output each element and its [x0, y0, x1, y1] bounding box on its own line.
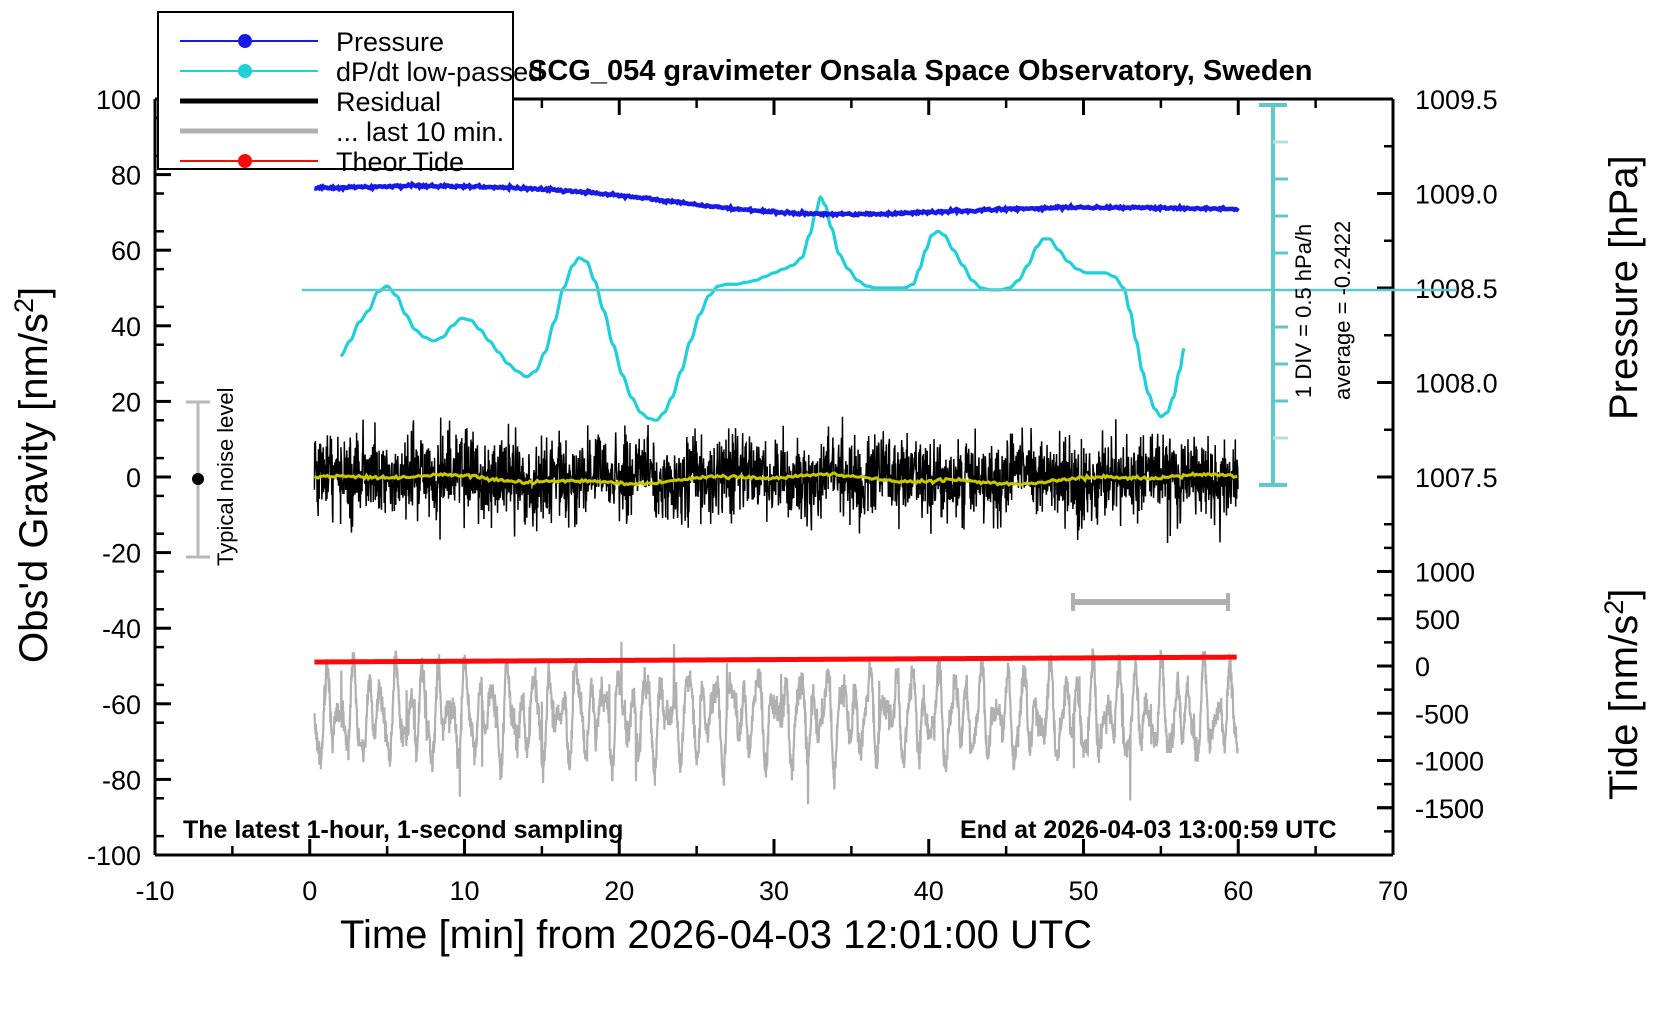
- page-title: SCG_054 gravimeter Onsala Space Observat…: [528, 55, 1312, 87]
- x-tick-label: 20: [604, 876, 634, 906]
- gravimeter-chart: -100-80-60-40-20020406080100 -1001020304…: [0, 0, 1660, 1020]
- y-tick-label: -80: [102, 765, 141, 795]
- x-tick-label: 70: [1378, 876, 1408, 906]
- legend: PressuredP/dt low-passedResidual... last…: [158, 12, 543, 177]
- x-tick-label: 0: [302, 876, 317, 906]
- average-label: average = -0.2422: [1330, 221, 1355, 400]
- legend-label: dP/dt low-passed: [336, 57, 543, 87]
- tide-tick-label: -1000: [1415, 747, 1484, 777]
- div-scale-label: 1 DIV = 0.5 hPa/h: [1291, 224, 1316, 398]
- y-tick-label: 60: [111, 236, 141, 266]
- y-axis-right-top-title: Pressure [hPa]: [1602, 155, 1646, 420]
- tide-tick-label: 0: [1415, 652, 1430, 682]
- x-axis-title: Time [min] from 2026-04-03 12:01:00 UTC: [340, 913, 1092, 957]
- pressure-tick-label: 1007.5: [1415, 463, 1498, 493]
- y-tick-label: 20: [111, 387, 141, 417]
- tide-tick-label: -1500: [1415, 794, 1484, 824]
- tide-tick-label: 1000: [1415, 558, 1475, 588]
- chart-page: -100-80-60-40-20020406080100 -1001020304…: [0, 0, 1660, 1020]
- footer-right-label: End at 2026-04-03 13:00:59 UTC: [960, 816, 1337, 844]
- legend-label: ... last 10 min.: [336, 117, 504, 147]
- y-tick-label: -100: [87, 841, 141, 871]
- legend-marker: [238, 34, 252, 48]
- tide-tick-label: -500: [1415, 699, 1469, 729]
- legend-label: Pressure: [336, 27, 444, 57]
- x-tick-label: 60: [1223, 876, 1253, 906]
- legend-marker: [238, 154, 252, 168]
- x-tick-label: -10: [135, 876, 174, 906]
- pressure-tick-label: 1009.5: [1415, 85, 1498, 115]
- legend-marker: [238, 64, 252, 78]
- typical-noise-level-label: Typical noise level: [213, 387, 238, 566]
- y-tick-label: 100: [96, 85, 141, 115]
- footer-left-label: The latest 1-hour, 1-second sampling: [183, 816, 623, 844]
- tide-tick-label: 500: [1415, 605, 1460, 635]
- pressure-tick-label: 1008.0: [1415, 369, 1498, 399]
- legend-label: Theor.Tide: [336, 147, 464, 177]
- x-tick-label: 10: [449, 876, 479, 906]
- pressure-tick-label: 1009.0: [1415, 180, 1498, 210]
- y-tick-label: -40: [102, 614, 141, 644]
- y-tick-label: -60: [102, 690, 141, 720]
- y-axis-right-bottom-title: Tide [nm/s2]: [1599, 589, 1646, 800]
- y-tick-label: 80: [111, 161, 141, 191]
- x-tick-label: 30: [759, 876, 789, 906]
- y-tick-label: 40: [111, 312, 141, 342]
- x-tick-label: 50: [1068, 876, 1098, 906]
- y-tick-label: 0: [126, 463, 141, 493]
- x-tick-label: 40: [914, 876, 944, 906]
- legend-label: Residual: [336, 87, 441, 117]
- y-tick-label: -20: [102, 539, 141, 569]
- y-axis-left-title: Obs'd Gravity [nm/s2]: [9, 287, 56, 663]
